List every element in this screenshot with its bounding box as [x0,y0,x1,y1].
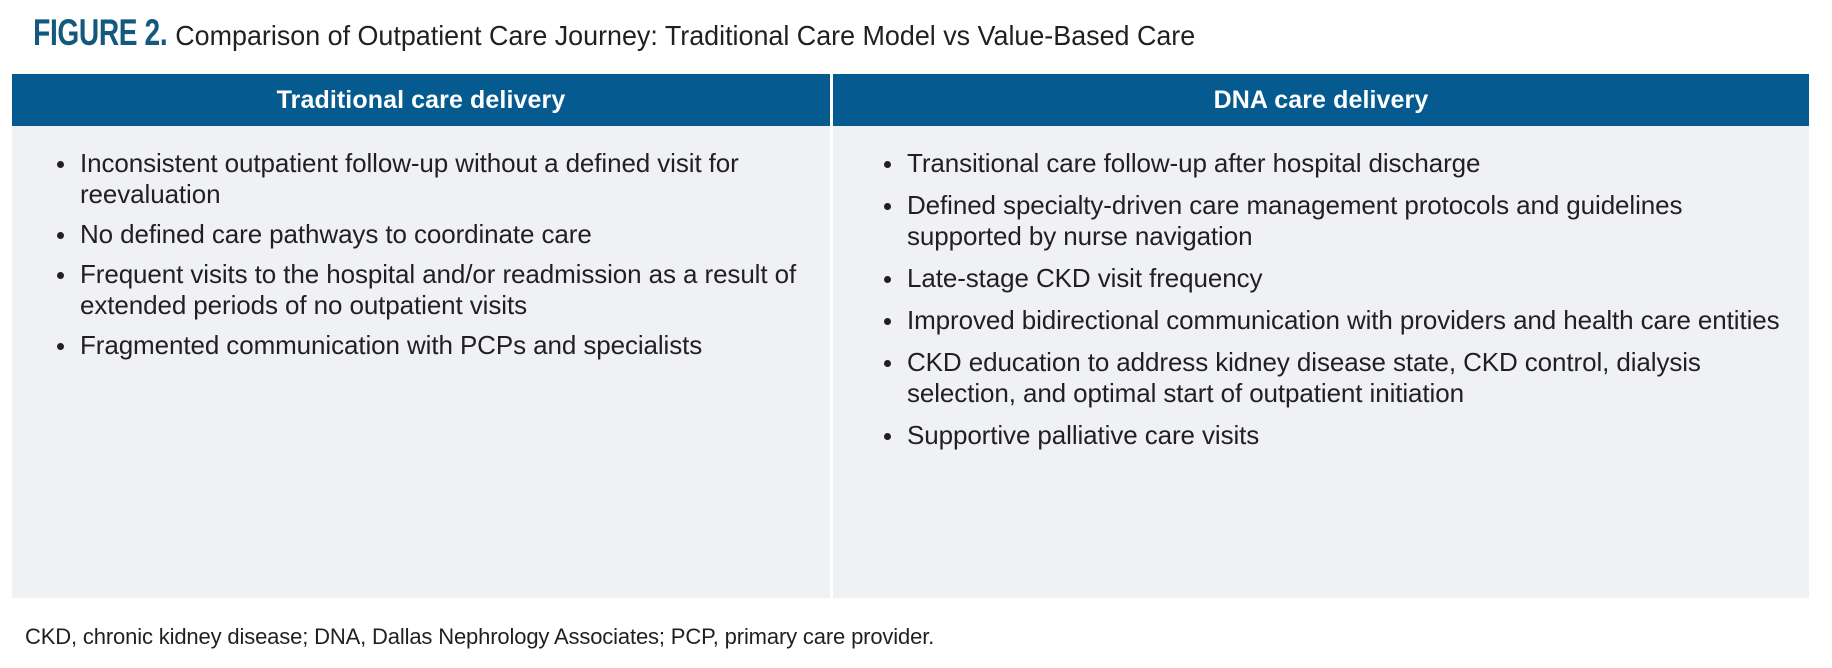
list-item: Inconsistent outpatient follow-up withou… [54,148,812,210]
column-dna-care: DNA care delivery Transitional care foll… [833,74,1809,598]
bullet-list-traditional: Inconsistent outpatient follow-up withou… [54,148,812,361]
bullet-list-dna: Transitional care follow-up after hospit… [881,148,1785,451]
list-item: CKD education to address kidney disease … [881,347,1785,409]
figure-title-row: FIGURE 2. Comparison of Outpatient Care … [12,14,1812,58]
column-body-traditional: Inconsistent outpatient follow-up withou… [12,126,830,380]
list-item: Fragmented communication with PCPs and s… [54,330,812,361]
column-header-traditional: Traditional care delivery [12,74,830,126]
figure-footnote: CKD, chronic kidney disease; DNA, Dallas… [25,624,934,650]
list-item: Supportive palliative care visits [881,420,1785,451]
figure-number-label: FIGURE 2. [33,14,167,51]
list-item: Transitional care follow-up after hospit… [881,148,1785,179]
column-header-dna: DNA care delivery [833,74,1809,126]
comparison-table: Traditional care delivery Inconsistent o… [12,74,1809,598]
list-item: Improved bidirectional communication wit… [881,305,1785,336]
column-traditional-care: Traditional care delivery Inconsistent o… [12,74,830,598]
list-item: No defined care pathways to coordinate c… [54,219,812,250]
figure-title-text: Comparison of Outpatient Care Journey: T… [176,22,1196,50]
list-item: Frequent visits to the hospital and/or r… [54,259,812,321]
figure-container: FIGURE 2. Comparison of Outpatient Care … [0,0,1832,668]
list-item: Late-stage CKD visit frequency [881,263,1785,294]
list-item: Defined specialty-driven care management… [881,190,1785,252]
column-body-dna: Transitional care follow-up after hospit… [833,126,1809,472]
